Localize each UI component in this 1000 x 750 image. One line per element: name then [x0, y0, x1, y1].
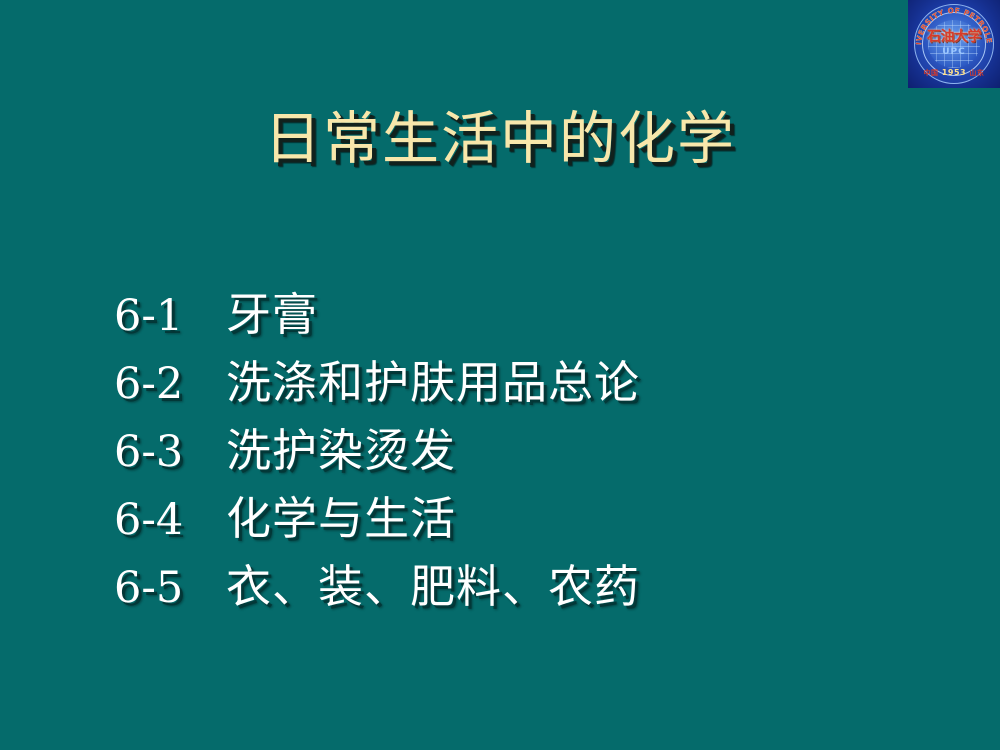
list-item: 6-1 牙膏: [114, 278, 894, 346]
list-item-number: 6-1: [114, 291, 226, 341]
logo-year: 1953: [942, 68, 966, 77]
list-item-label: 衣、装、肥料、农药: [226, 550, 640, 615]
university-logo-icon: UNIVERSITY OF PETROLEUM 石油大学 UPC 中国 1953…: [908, 0, 1000, 88]
logo-abbreviation: UPC: [908, 47, 1000, 57]
list-item: 6-2 洗涤和护肤用品总论: [114, 346, 894, 414]
list-item-label: 化学与生活: [226, 482, 456, 547]
list-item-label: 牙膏: [226, 278, 318, 343]
logo-chinese-name: 石油大学: [908, 30, 1000, 44]
outline-list: 6-1 牙膏 6-2 洗涤和护肤用品总论 6-3 洗护染烫发 6-4 化学与生活…: [114, 278, 894, 618]
list-item-number: 6-3: [114, 427, 226, 477]
logo-year-left: 中国: [924, 69, 939, 77]
slide-title: 日常生活中的化学: [0, 103, 1000, 175]
list-item-label: 洗涤和护肤用品总论: [226, 346, 640, 411]
logo-year-right: 山东: [969, 69, 984, 77]
list-item-label: 洗护染烫发: [226, 414, 456, 479]
list-item: 6-3 洗护染烫发: [114, 414, 894, 482]
list-item: 6-5 衣、装、肥料、农药: [114, 550, 894, 618]
list-item: 6-4 化学与生活: [114, 482, 894, 550]
list-item-number: 6-2: [114, 359, 226, 409]
presentation-slide: 日常生活中的化学 6-1 牙膏 6-2 洗涤和护肤用品总论 6-3 洗护染烫发 …: [0, 0, 1000, 750]
list-item-number: 6-4: [114, 495, 226, 545]
logo-year-row: 中国 1953 山东: [908, 68, 1000, 78]
list-item-number: 6-5: [114, 563, 226, 613]
